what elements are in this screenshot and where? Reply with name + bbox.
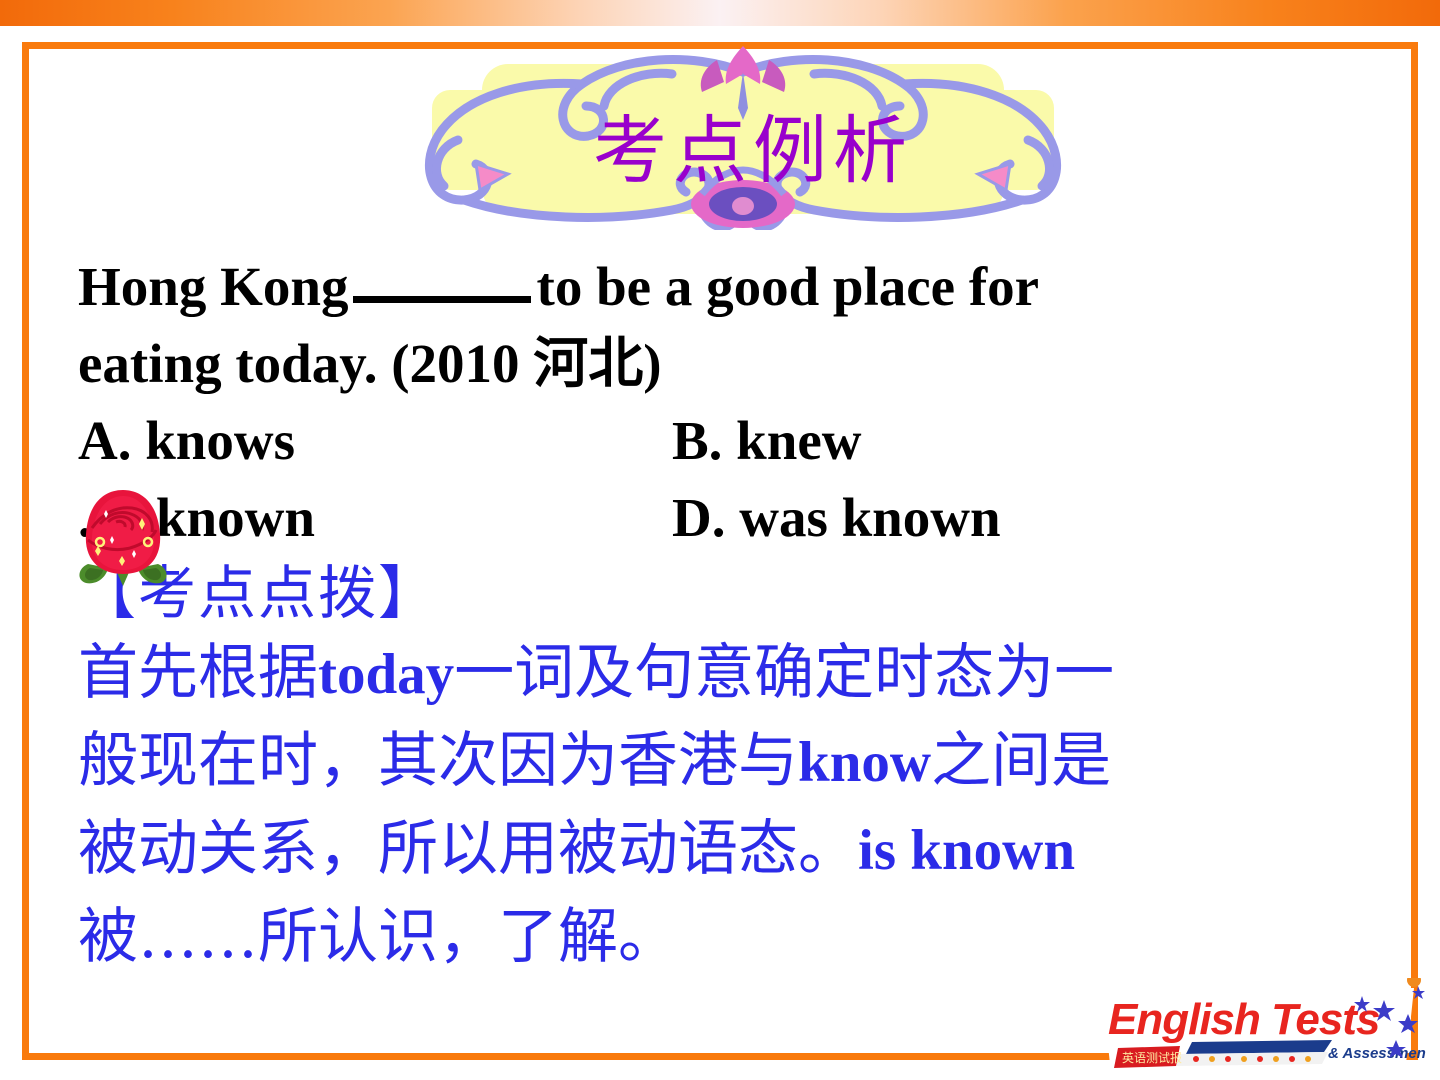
explanation-line-1: 首先根据today一词及句意确定时态为一: [78, 630, 1398, 718]
logo-sub-text: & Assessments: [1328, 1045, 1426, 1062]
explanation-heading: 【考点点拨】: [78, 556, 1398, 630]
option-b[interactable]: B. knew: [672, 402, 1172, 479]
explanation-line-1-b: 一词及句意确定时态为一: [454, 638, 1114, 708]
question-tail: to be a good place for: [537, 256, 1040, 317]
slide-canvas: 考点例析 Hong Kongto be a good place for eat…: [0, 0, 1440, 1080]
logo-badge-text: 英语测试报: [1122, 1050, 1182, 1065]
explanation-line-3: 被动关系，所以用被动语态。is known: [78, 806, 1398, 894]
answer-blank: [353, 256, 531, 303]
logo-dot-icon: [1407, 978, 1421, 987]
content-body: Hong Kongto be a good place for eating t…: [78, 248, 1398, 981]
option-a[interactable]: A. knows: [78, 402, 672, 479]
page-title: 考点例析: [372, 44, 1114, 230]
rose-icon: [76, 484, 170, 586]
explanation-line-2-a: 般现在时，其次因为香港与: [78, 726, 798, 796]
explanation-line-2-keyword: know: [798, 731, 931, 794]
question-subject: Hong Kong: [78, 256, 349, 317]
explanation-line-3-keyword: is known: [858, 819, 1075, 882]
explanation-line-2-b: 之间是: [931, 726, 1111, 796]
explanation-line-4: 被……所认识，了解。: [78, 894, 1398, 981]
top-gradient-band: [0, 0, 1440, 26]
explanation-line-3-a: 被动关系，所以用被动语态。: [78, 814, 858, 884]
option-d[interactable]: D. was known: [672, 479, 1172, 556]
logo-main-text: English Tests: [1108, 995, 1379, 1044]
title-banner: 考点例析: [372, 44, 1114, 230]
explanation-line-1-keyword: today: [318, 643, 454, 706]
english-tests-logo: English Tests 英语测试报 & Assessments: [1096, 978, 1426, 1074]
explanation-line-1-a: 首先根据: [78, 638, 318, 708]
explanation-line-2: 般现在时，其次因为香港与know之间是: [78, 718, 1398, 806]
options-row-2: . is known D. was known: [78, 479, 1398, 556]
options-row-1: A. knows B. knew: [78, 402, 1398, 479]
question-line-2: eating today. (2010 河北): [78, 325, 1398, 402]
question-line-1: Hong Kongto be a good place for: [78, 248, 1398, 325]
